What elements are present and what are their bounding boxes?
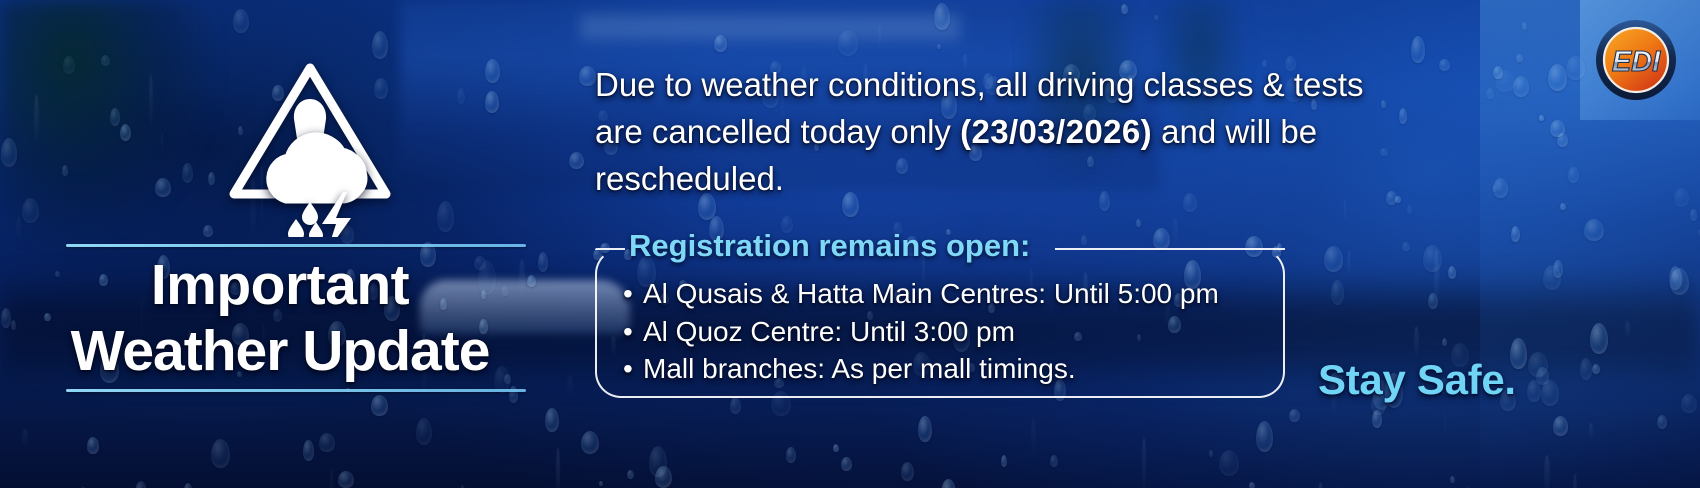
bullet-icon: • (623, 275, 643, 313)
lead-message: Due to weather conditions, all driving c… (595, 62, 1415, 203)
bullet-icon: • (623, 350, 643, 388)
list-item: •Al Qusais & Hatta Main Centres: Until 5… (623, 275, 1273, 313)
bullet-icon: • (623, 313, 643, 351)
divider-rule-bottom (66, 389, 526, 392)
edi-circular-logo: EDI (1594, 18, 1678, 102)
divider-rule-top (66, 244, 526, 247)
headline-line-1: Important (151, 253, 409, 317)
stay-safe-text: Stay Safe. (1318, 356, 1516, 404)
page-title: Important Weather Update (0, 252, 560, 384)
list-item-label: Al Quoz Centre: Until 3:00 pm (643, 316, 1015, 347)
list-item: •Al Quoz Centre: Until 3:00 pm (623, 313, 1273, 351)
list-item-label: Mall branches: As per mall timings. (643, 353, 1076, 384)
cancellation-date: (23/03/2026) (960, 113, 1152, 150)
list-item-label: Al Qusais & Hatta Main Centres: Until 5:… (643, 278, 1219, 309)
edi-logo-text: EDI (1612, 46, 1661, 78)
storm-warning-triangle-icon (218, 52, 403, 237)
registration-list: •Al Qusais & Hatta Main Centres: Until 5… (623, 275, 1273, 388)
main-message-block: Due to weather conditions, all driving c… (585, 0, 1425, 488)
left-identity-block: Important Weather Update (0, 0, 560, 488)
headline-line-2: Weather Update (0, 318, 560, 384)
list-item: •Mall branches: As per mall timings. (623, 350, 1273, 388)
weather-update-banner: Important Weather Update Due to weather … (0, 0, 1700, 488)
registration-title: Registration remains open: (623, 228, 1038, 264)
